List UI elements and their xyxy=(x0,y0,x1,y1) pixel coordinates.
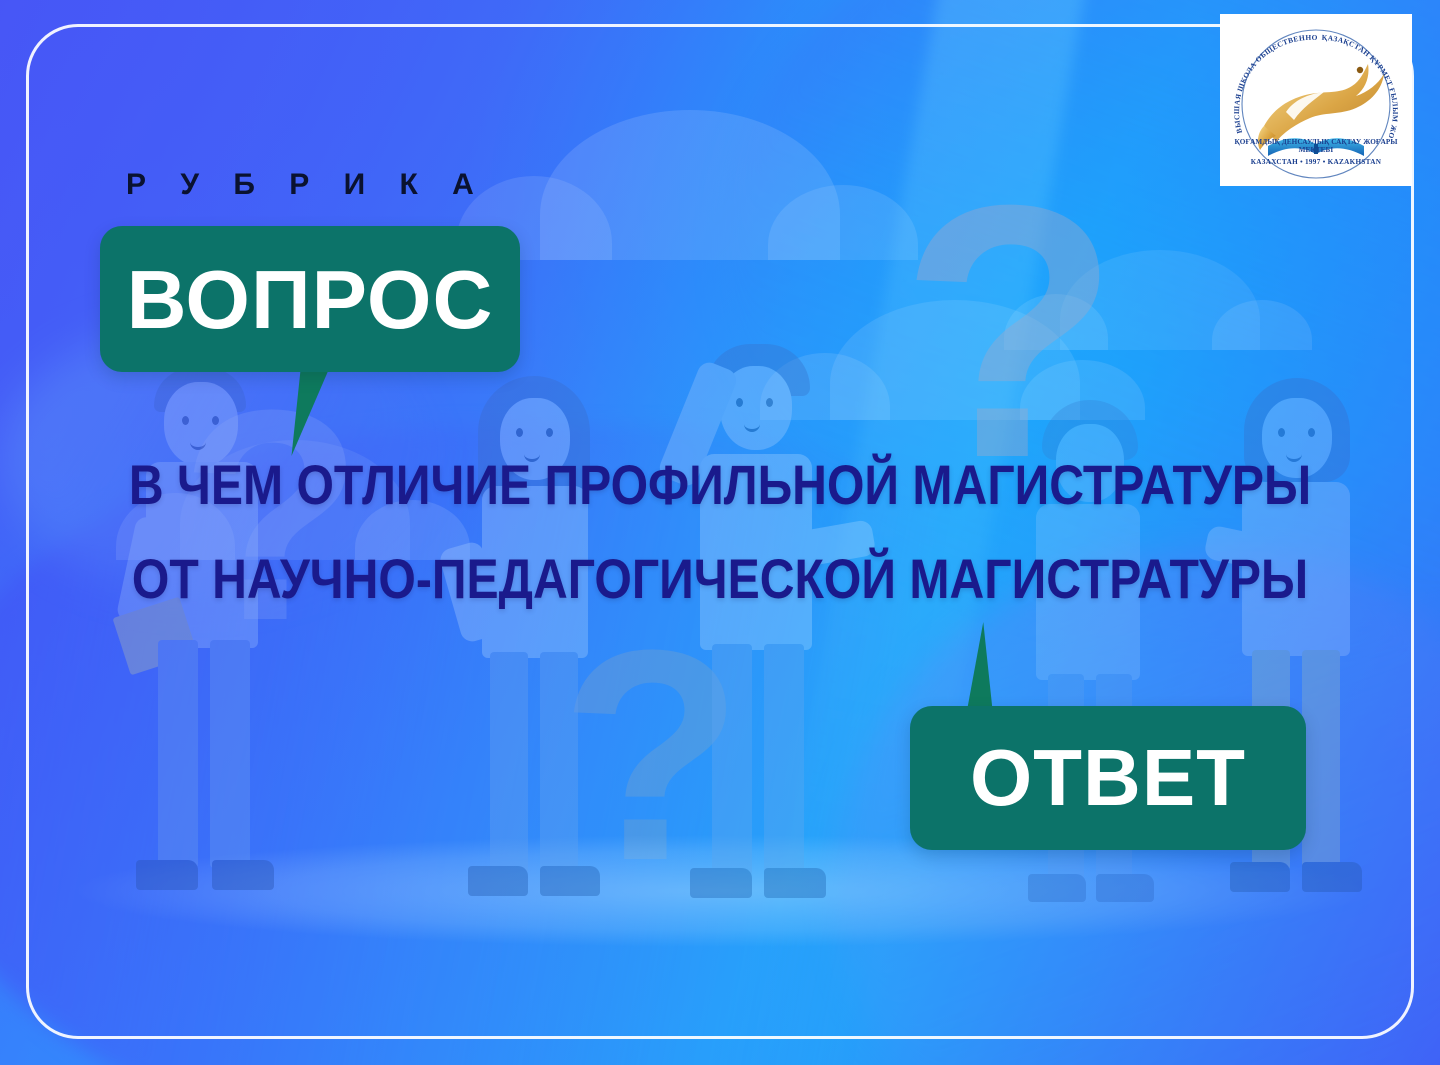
poster-canvas: ? ? ? xyxy=(0,0,1440,1065)
logo-caption-kk: ҚОҒАМДЫҚ ДЕНСАУЛЫҚ САҚТАУ ЖОҒАРЫ МЕКТЕБІ xyxy=(1228,138,1404,154)
question-headline-line-1: В ЧЕМ ОТЛИЧИЕ ПРОФИЛЬНОЙ МАГИСТРАТУРЫ xyxy=(101,456,1339,513)
logo-caption-country: КАЗАХСТАН • 1997 • KAZAKHSTAN xyxy=(1228,158,1404,166)
logo-emblem-icon: ВЫСШАЯ ШКОЛА ОБЩЕСТВЕННОГО ЗДРАВООХРАНЕН… xyxy=(1228,20,1404,180)
question-bubble-label: ВОПРОС xyxy=(127,258,494,341)
answer-bubble[interactable]: ОТВЕТ xyxy=(910,706,1306,850)
question-headline-line-2: ОТ НАУЧНО-ПЕДАГОГИЧЕСКОЙ МАГИСТРАТУРЫ xyxy=(101,550,1339,607)
answer-bubble-label: ОТВЕТ xyxy=(970,738,1246,818)
question-bubble[interactable]: ВОПРОС xyxy=(100,226,520,372)
rubric-kicker: Р У Б Р И К А xyxy=(126,168,487,202)
organization-logo: ВЫСШАЯ ШКОЛА ОБЩЕСТВЕННОГО ЗДРАВООХРАНЕН… xyxy=(1220,14,1412,186)
